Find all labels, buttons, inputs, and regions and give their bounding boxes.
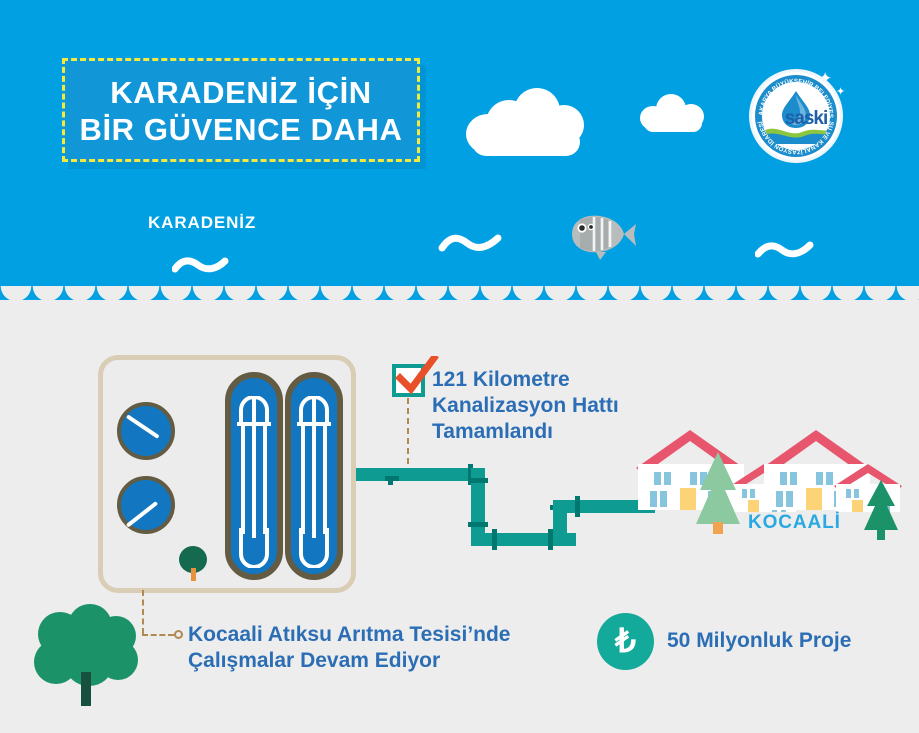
aeration-tank-1 (225, 372, 283, 580)
fish-icon (558, 208, 636, 260)
plant-leader-dot (174, 630, 183, 639)
saski-logo[interactable]: ✦ ✦ SAKARYA BÜYÜKŞEHİR BELEDİYESİ SU VE … (752, 72, 860, 160)
pipeline-callout-line-3: Tamamlandı (432, 419, 682, 445)
village-label: KOCAALİ (748, 512, 841, 534)
headline-line-1: KARADENİZ İÇİN (65, 74, 417, 111)
wave-mark-1 (172, 255, 230, 277)
plant-leader-line-vertical (142, 590, 144, 634)
treatment-plant[interactable] (98, 355, 356, 593)
pipeline-callout-line-1: 121 Kilometre (432, 367, 682, 393)
pipe-seg-top (356, 468, 484, 481)
pipeline-leader-line (407, 398, 409, 464)
sea-wave-edge (0, 286, 919, 316)
budget-badge-icon: ₺ (597, 613, 654, 670)
clarifier-2 (117, 476, 175, 534)
wave-mark-3 (755, 240, 815, 262)
clarifier-1 (117, 402, 175, 460)
plant-caption-line-2: Çalışmalar Devam Ediyor (188, 648, 588, 674)
sea-label: KARADENİZ (148, 213, 256, 233)
headline-box: KARADENİZ İÇİN BİR GÜVENCE DAHA (62, 58, 420, 162)
logo-inner-disc: saski (762, 82, 830, 150)
pipeline-callout: 121 Kilometre Kanalizasyon Hattı Tamamla… (432, 367, 682, 445)
budget-label: 50 Milyonluk Proje (667, 628, 907, 654)
wave-mark-2 (438, 232, 504, 256)
headline-line-2: BİR GÜVENCE DAHA (65, 111, 417, 148)
logo-wordmark: saski (771, 109, 830, 128)
infographic-canvas: KARADENİZ KARADENİZ İÇİN BİR GÜVENCE DAH… (0, 0, 919, 733)
pipeline-callout-line-2: Kanalizasyon Hattı (432, 393, 682, 419)
plant-leader-line-horizontal (142, 634, 174, 636)
lira-icon: ₺ (597, 613, 654, 670)
pine-tree-2 (862, 480, 900, 540)
aeration-tank-2 (285, 372, 343, 580)
plant-caption-line-1: Kocaali Atıksu Arıtma Tesisi’nde (188, 622, 588, 648)
pine-tree-1 (694, 452, 742, 534)
sparkle-icon-small: ✦ (836, 84, 845, 101)
plant-caption: Kocaali Atıksu Arıtma Tesisi’nde Çalışma… (188, 622, 588, 674)
